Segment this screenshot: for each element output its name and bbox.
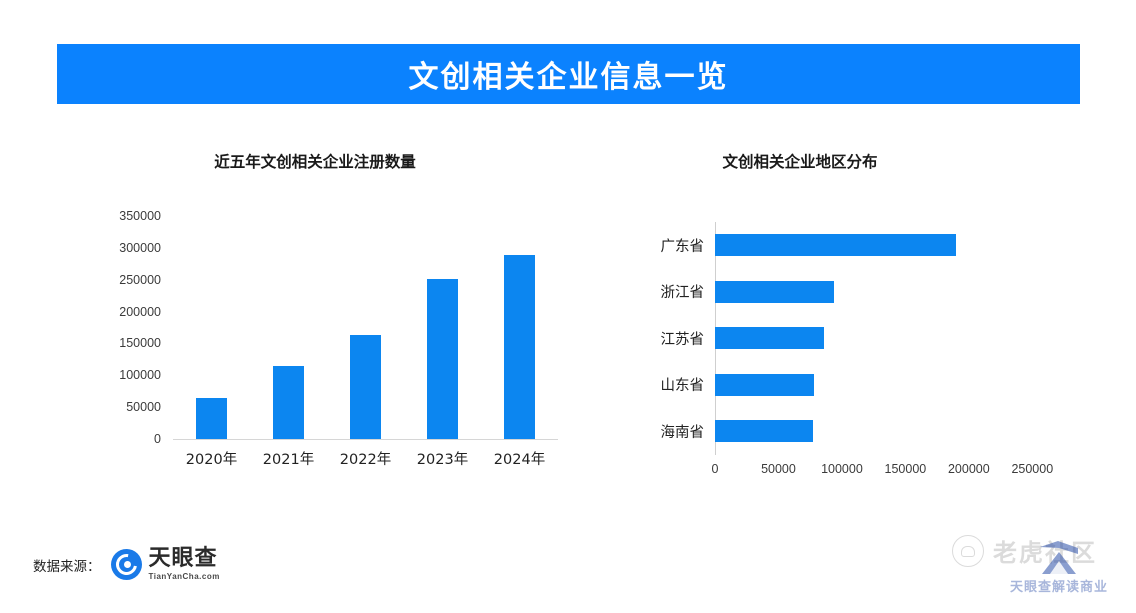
- right-chart-plot: 广东省浙江省江苏省山东省海南省 050000100000150000200000…: [640, 222, 1060, 502]
- tianyancha-wordmark: 天眼查 TianYanCha.com: [149, 548, 220, 581]
- x-axis-tick: 100000: [821, 462, 863, 476]
- data-source-label: 数据来源：: [33, 555, 101, 575]
- bar-track: [715, 269, 1060, 316]
- x-axis-tick: 200000: [948, 462, 990, 476]
- left-chart-x-labels: 2020年2021年2022年2023年2024年: [173, 448, 558, 469]
- column-category-label: 2021年: [250, 448, 327, 469]
- y-axis-tick: 350000: [119, 209, 161, 223]
- column-bar-slot: [481, 216, 558, 439]
- bar-category-label: 江苏省: [640, 328, 715, 349]
- bar-track: [715, 362, 1060, 409]
- right-chart-bars: 广东省浙江省江苏省山东省海南省: [640, 222, 1060, 455]
- bar-row: 江苏省: [640, 315, 1060, 362]
- bar-row: 山东省: [640, 362, 1060, 409]
- registration-count-chart: 近五年文创相关企业注册数量 05000010000015000020000025…: [95, 150, 595, 510]
- brand-watermark-text: 天眼查解读商业: [1010, 576, 1108, 595]
- left-chart-title: 近五年文创相关企业注册数量: [105, 150, 525, 172]
- y-axis-tick: 100000: [119, 368, 161, 382]
- tianyancha-name-en: TianYanCha.com: [149, 573, 220, 581]
- right-chart-title: 文创相关企业地区分布: [600, 150, 1000, 172]
- community-ring-icon: [952, 535, 984, 567]
- tianyancha-logo: 天眼查 TianYanCha.com: [111, 548, 220, 581]
- y-axis-tick: 250000: [119, 273, 161, 287]
- y-axis-tick: 200000: [119, 305, 161, 319]
- left-chart-y-axis: 0500001000001500002000002500003000003500…: [95, 216, 167, 439]
- column-bar-slot: [404, 216, 481, 439]
- y-axis-tick: 300000: [119, 241, 161, 255]
- right-chart-x-axis: 050000100000150000200000250000: [715, 456, 1045, 480]
- column-bar: [427, 279, 458, 439]
- column-bar-slot: [327, 216, 404, 439]
- y-axis-tick: 0: [154, 432, 161, 446]
- region-distribution-chart: 文创相关企业地区分布 广东省浙江省江苏省山东省海南省 0500001000001…: [640, 150, 1060, 510]
- title-banner: 文创相关企业信息一览: [57, 44, 1080, 104]
- bar-category-label: 海南省: [640, 421, 715, 442]
- bar-category-label: 广东省: [640, 235, 715, 256]
- bar-track: [715, 408, 1060, 455]
- column-category-label: 2020年: [173, 448, 250, 469]
- bar-fill: [715, 420, 813, 442]
- column-bar-slot: [173, 216, 250, 439]
- bar-fill: [715, 281, 834, 303]
- column-category-label: 2023年: [404, 448, 481, 469]
- bar-category-label: 山东省: [640, 374, 715, 395]
- page-title: 文创相关企业信息一览: [409, 52, 729, 96]
- y-axis-tick: 50000: [126, 400, 161, 414]
- left-chart-bars: [173, 216, 558, 440]
- column-bar: [273, 366, 304, 439]
- bar-category-label: 浙江省: [640, 281, 715, 302]
- left-chart-plot: 0500001000001500002000002500003000003500…: [95, 216, 565, 456]
- bar-fill: [715, 374, 814, 396]
- column-category-label: 2022年: [327, 448, 404, 469]
- bar-track: [715, 315, 1060, 362]
- column-bar: [350, 335, 381, 439]
- bar-row: 广东省: [640, 222, 1060, 269]
- tianyancha-eye-icon: [111, 549, 142, 580]
- x-axis-tick: 150000: [885, 462, 927, 476]
- column-category-label: 2024年: [481, 448, 558, 469]
- y-axis-tick: 150000: [119, 336, 161, 350]
- bar-fill: [715, 234, 956, 256]
- data-source: 数据来源： 天眼查 TianYanCha.com: [33, 548, 220, 581]
- bar-row: 海南省: [640, 408, 1060, 455]
- infographic-page: 文创相关企业信息一览 近五年文创相关企业注册数量 050000100000150…: [0, 0, 1136, 613]
- x-axis-tick: 50000: [761, 462, 796, 476]
- brand-watermark: 天眼查解读商业: [1000, 541, 1118, 595]
- bar-fill: [715, 327, 824, 349]
- column-bar: [196, 398, 227, 439]
- brand-mark-icon: [1036, 541, 1082, 575]
- bar-track: [715, 222, 1060, 269]
- column-bar: [504, 255, 535, 439]
- x-axis-tick: 250000: [1011, 462, 1053, 476]
- x-axis-tick: 0: [712, 462, 719, 476]
- bar-row: 浙江省: [640, 269, 1060, 316]
- tianyancha-name-cn: 天眼查: [149, 548, 220, 570]
- column-bar-slot: [250, 216, 327, 439]
